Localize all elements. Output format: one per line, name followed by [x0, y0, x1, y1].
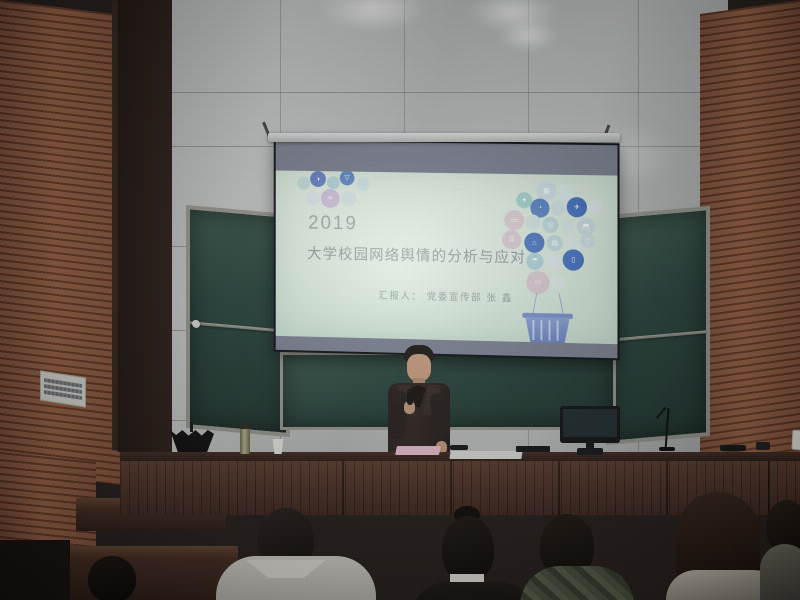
monitor-screen — [563, 409, 617, 437]
ceiling-light-glow — [498, 18, 558, 52]
audience-camo-jacket — [524, 514, 632, 600]
projector-screen-roller — [268, 133, 620, 142]
white-phone — [791, 430, 800, 451]
home-icon: ⌂ — [524, 232, 544, 252]
chalkboard-right — [606, 206, 710, 445]
target-icon: ◎ — [542, 217, 558, 233]
white-papers — [449, 451, 522, 459]
desk-remote — [450, 445, 468, 450]
audience-ponytail-dark — [418, 512, 528, 600]
slide-presenter: 汇报人： 党委宣传部 张 鑫 — [378, 288, 513, 305]
pillar-shadow-left — [118, 0, 172, 452]
card-icon: ▭ — [526, 271, 549, 295]
brick-wall-right — [700, 0, 800, 484]
plane-icon: ✈ — [567, 197, 587, 217]
phone-icon: ▯ — [581, 233, 595, 247]
circle-icon — [327, 176, 340, 189]
desk-object-right — [756, 442, 770, 450]
circle-icon — [551, 201, 566, 216]
circle-icon — [565, 235, 580, 250]
desk-panel-seam — [342, 461, 344, 515]
desk-panel-seam — [558, 461, 560, 515]
microphone-base — [659, 447, 675, 451]
balloon-string — [532, 293, 537, 315]
audience-far-right — [766, 500, 800, 600]
audience-shoulders — [520, 566, 634, 600]
document-icon: ▤ — [546, 235, 562, 251]
audience-shoulders — [412, 582, 534, 600]
microphone — [407, 389, 413, 405]
circle-icon — [356, 178, 369, 191]
slide-title: 大学校园网络舆情的分析与应对 — [307, 242, 526, 267]
circle-icon — [587, 199, 601, 213]
circle-icon — [342, 191, 357, 206]
presentation-slide: ◑ ▽ ⌗ ▦ ✦ ◔ ✈ ▭ ◎ ⬒ — [276, 170, 618, 344]
computer-monitor — [560, 406, 620, 443]
circle-icon — [561, 219, 575, 233]
desk-panel-seam — [450, 461, 452, 515]
audience-shoulders — [760, 544, 800, 600]
circle-icon — [297, 177, 310, 190]
desk-cable-bundle — [720, 445, 746, 451]
circle-icon — [546, 255, 560, 269]
audience-head — [88, 556, 136, 600]
audience-head — [442, 516, 494, 582]
thermos-bottle — [240, 428, 250, 454]
monitor-base — [577, 448, 603, 455]
moon-icon: ◑ — [310, 171, 326, 187]
balloon-string — [559, 293, 564, 315]
brick-wall-left — [0, 0, 120, 485]
umbrella-handle — [190, 422, 193, 432]
audience-left-edge — [74, 556, 164, 600]
keyboard — [516, 446, 550, 452]
mobile-icon: ▯ — [563, 249, 584, 271]
funnel-icon: ▽ — [340, 170, 355, 185]
circle-icon — [525, 214, 540, 229]
thermos-cap — [240, 423, 250, 429]
bed-icon: ▭ — [504, 210, 524, 230]
slide-year: 2019 — [308, 213, 358, 236]
floor-dark-left — [0, 540, 70, 600]
projector-screen: ◑ ▽ ⌗ ▦ ✦ ◔ ✈ ▭ ◎ ⬒ — [274, 139, 620, 361]
circle-icon — [305, 191, 320, 206]
audience-gray-jacket — [216, 508, 376, 600]
grid-icon: ⌗ — [321, 189, 340, 208]
basket-icon — [525, 317, 569, 344]
ceiling-light-glow — [318, 0, 428, 32]
lecture-hall-photo: ◑ ▽ ⌗ ▦ ✦ ◔ ✈ ▭ ◎ ⬒ — [0, 0, 800, 600]
pink-papers — [395, 446, 441, 455]
umbrella-icon: ☂ — [526, 253, 543, 270]
circle-icon — [551, 275, 565, 289]
